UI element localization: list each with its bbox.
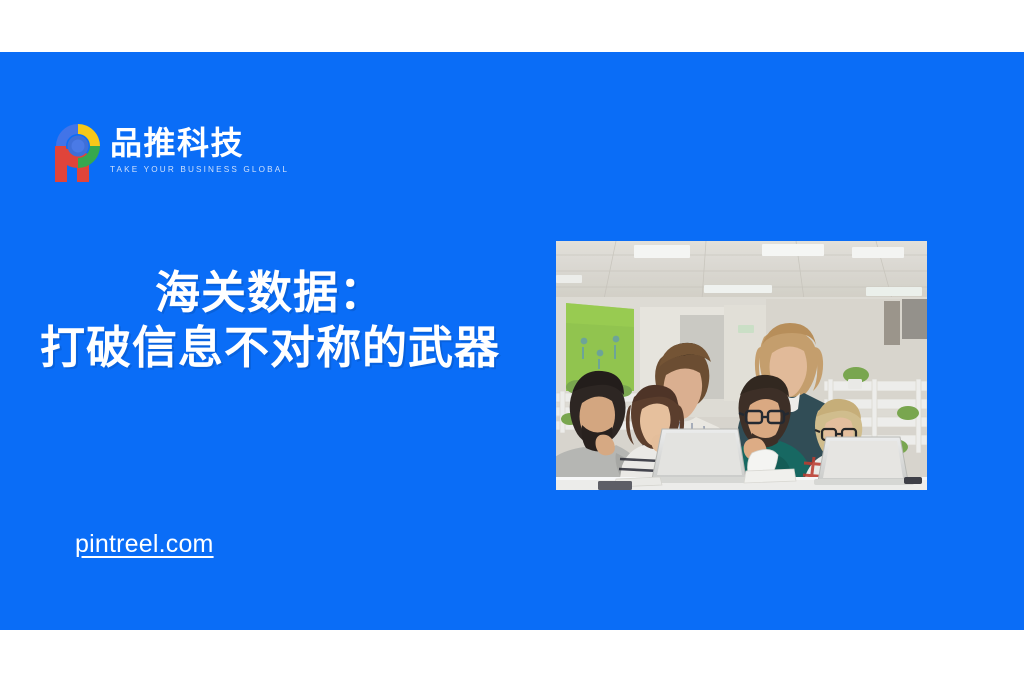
brand-logo[interactable]: 品推科技 TAKE YOUR BUSINESS GLOBAL xyxy=(52,120,272,186)
headline-line-1: 海关数据： xyxy=(0,266,540,320)
headline-line-2: 打破信息不对称的武器 xyxy=(0,320,540,376)
brand-tagline: TAKE YOUR BUSINESS GLOBAL xyxy=(110,164,280,176)
slide-headline: 海关数据： 打破信息不对称的武器 xyxy=(0,266,540,376)
brand-lockup-text: 品推科技 TAKE YOUR BUSINESS GLOBAL xyxy=(110,124,280,176)
team-photo-illustration xyxy=(556,241,927,490)
site-url-link[interactable]: pintreel.com xyxy=(75,530,214,559)
pintreel-circular-p-logo-icon xyxy=(52,120,104,184)
brand-name-cn: 品推科技 xyxy=(110,124,280,162)
slide-canvas: 品推科技 TAKE YOUR BUSINESS GLOBAL 海关数据： 打破信… xyxy=(0,0,1024,683)
team-photo xyxy=(556,241,927,490)
